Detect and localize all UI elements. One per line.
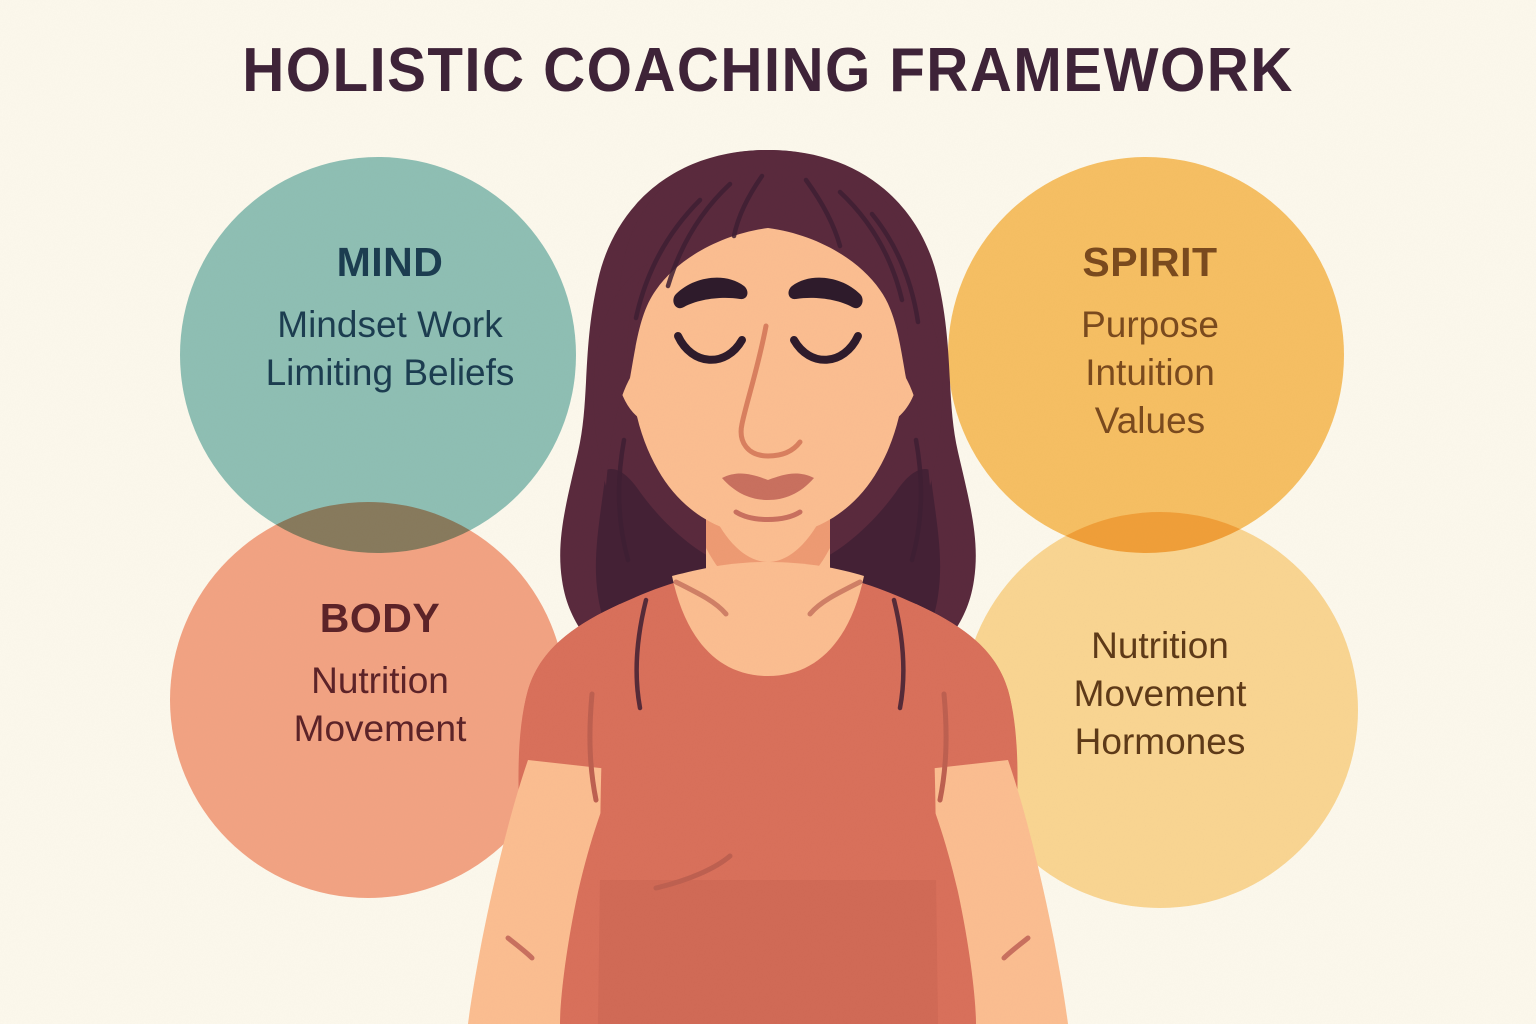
body-heading: BODY <box>120 592 640 645</box>
spirit-circle-text: SPIRIT Purpose Intuition Values <box>890 236 1410 446</box>
spirit-line-1: Purpose <box>890 301 1410 349</box>
mind-circle-text: MIND Mindset Work Limiting Beliefs <box>130 236 650 397</box>
page-title: HOLISTIC COACHING FRAMEWORK <box>46 38 1490 103</box>
extra-line-3: Hormones <box>900 718 1420 766</box>
woman-illustration <box>0 0 1536 1024</box>
spirit-line-2: Intuition <box>890 349 1410 397</box>
mind-line-1: Mindset Work <box>130 301 650 349</box>
shirt-shade <box>598 880 938 1024</box>
spirit-heading: SPIRIT <box>890 236 1410 289</box>
extra-circle-text: Nutrition Movement Hormones <box>900 622 1420 766</box>
body-line-2: Movement <box>120 705 640 753</box>
mind-heading: MIND <box>130 236 650 289</box>
infographic-canvas: HOLISTIC COACHING FRAMEWORK MIND Mindset… <box>0 0 1536 1024</box>
extra-line-2: Movement <box>900 670 1420 718</box>
extra-line-1: Nutrition <box>900 622 1420 670</box>
mind-line-2: Limiting Beliefs <box>130 349 650 397</box>
body-line-1: Nutrition <box>120 657 640 705</box>
spirit-line-3: Values <box>890 397 1410 445</box>
body-circle-text: BODY Nutrition Movement <box>120 592 640 753</box>
